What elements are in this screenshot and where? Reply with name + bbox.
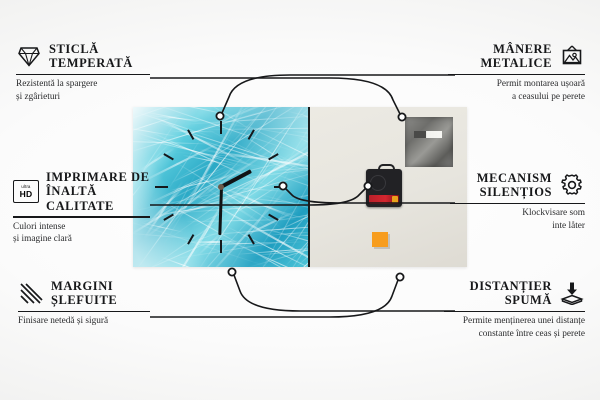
- callout-title-line1: STICLĂ: [49, 42, 99, 56]
- wire-dot-foam-spacer: [228, 268, 235, 275]
- clock-hour-hand: [220, 169, 252, 188]
- quartz-movement-box: [366, 169, 402, 207]
- clock-tick: [163, 214, 174, 221]
- callout-sub-line2: și imagine clară: [13, 234, 72, 244]
- wire-polished-edges: [150, 280, 398, 317]
- callout-title-line2: SILENȚIOS: [480, 185, 552, 199]
- callout-title-line1: DISTANȚIER: [470, 279, 552, 293]
- callout-polished-edges[interactable]: MARGINI ȘLEFUITE Finisare netedă și sigu…: [18, 279, 150, 328]
- clock-back-panel: [310, 107, 467, 267]
- callout-title-line2: TEMPERATĂ: [49, 56, 133, 70]
- callout-silent-mechanism[interactable]: MECANISM SILENȚIOS Klockvisare som inte …: [450, 171, 585, 232]
- callout-title-line1: MÂNERE: [493, 42, 552, 56]
- clock-tick: [155, 186, 168, 188]
- product-photo: [133, 107, 467, 267]
- callout-title-line2: SPUMĂ: [505, 293, 552, 307]
- callout-sub-line2: constante între ceas și perete: [479, 329, 585, 339]
- clock-tick: [248, 129, 255, 140]
- diamond-icon: [16, 44, 42, 68]
- callout-sub-line1: Culori intense: [13, 222, 65, 232]
- callout-sub-line2: inte låter: [552, 221, 585, 231]
- clock-tick: [187, 129, 194, 140]
- callout-rule: [450, 203, 585, 205]
- clock-tick: [268, 214, 279, 221]
- clock-tick: [220, 121, 222, 134]
- foam-spacer-pad: [372, 232, 388, 247]
- clock-tick: [187, 234, 194, 245]
- callout-title-line2: ȘLEFUITE: [51, 293, 117, 307]
- aa-battery: [369, 195, 399, 204]
- clock-tick: [163, 153, 174, 160]
- callout-tempered-glass[interactable]: STICLĂ TEMPERATĂ Rezistentă la spargere …: [16, 42, 150, 103]
- callout-sub-line2: și zgârieturi: [16, 92, 60, 102]
- gear-icon: [559, 173, 585, 197]
- callout-rule: [448, 74, 585, 76]
- wire-dot-polished-edges: [396, 273, 403, 280]
- callout-title-line2: ÎNALTĂ CALITATE: [46, 184, 114, 212]
- callout-print-quality[interactable]: ultra HD IMPRIMARE DE ÎNALTĂ CALITATE Cu…: [13, 170, 150, 245]
- callout-rule: [13, 216, 150, 218]
- clock-tick: [274, 186, 287, 188]
- clock-tick: [248, 234, 255, 245]
- movement-dial: [370, 175, 386, 191]
- hanging-frame-icon: [559, 44, 585, 68]
- press-down-pad-icon: [559, 281, 585, 305]
- clock-center-cap: [218, 184, 224, 190]
- hanger-bail: [378, 164, 395, 173]
- infographic-canvas: STICLĂ TEMPERATĂ Rezistentă la spargere …: [0, 0, 600, 400]
- callout-sub-line1: Permite menținerea unei distanțe: [463, 316, 585, 326]
- callout-rule: [18, 311, 150, 313]
- callout-rule: [444, 311, 585, 313]
- diagonal-lines-icon: [18, 281, 44, 305]
- clock-dial: [133, 107, 309, 267]
- wire-foam-spacer: [234, 275, 455, 311]
- callout-foam-spacer[interactable]: DISTANȚIER SPUMĂ Permite menținerea unei…: [444, 279, 585, 340]
- callout-rule: [16, 74, 150, 76]
- clock-front-panel: [133, 107, 310, 267]
- callout-sub-line1: Rezistentă la spargere: [16, 79, 97, 89]
- callout-sub-line1: Permit montarea ușoară: [497, 79, 585, 89]
- callout-title-line2: METALICE: [480, 56, 552, 70]
- clock-tick: [220, 240, 222, 253]
- clock-tick: [268, 153, 279, 160]
- callout-title-line1: MECANISM: [477, 171, 552, 185]
- callout-sub-line2: a ceasului pe perete: [512, 92, 585, 102]
- callout-title-line1: MARGINI: [51, 279, 113, 293]
- callout-title-line1: IMPRIMARE DE: [46, 170, 149, 184]
- callout-sub-line1: Finisare netedă și sigură: [18, 316, 108, 326]
- callout-sub-line1: Klockvisare som: [522, 208, 585, 218]
- callout-metal-handles[interactable]: MÂNERE METALICE Permit montarea ușoară a…: [448, 42, 585, 103]
- clock-minute-hand: [218, 187, 223, 235]
- metal-hanger-plate: [405, 117, 453, 167]
- ultra-hd-icon-large-text: HD: [20, 190, 33, 199]
- ultra-hd-icon: ultra HD: [13, 180, 39, 204]
